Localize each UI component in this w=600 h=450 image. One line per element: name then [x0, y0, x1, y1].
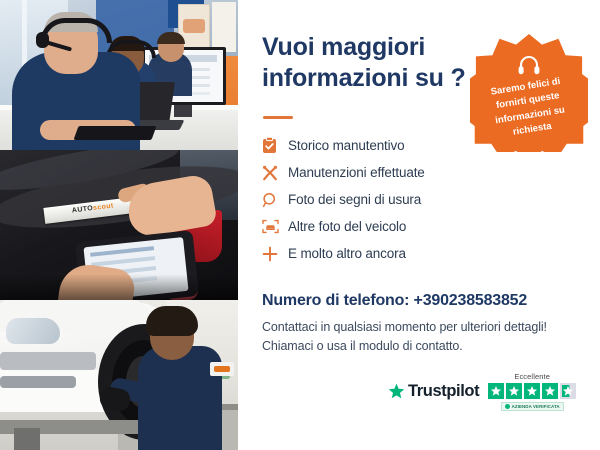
plus-icon: [262, 246, 288, 262]
list-item-label: Storico manutentivo: [288, 138, 404, 153]
list-item-label: Altre foto del veicolo: [288, 219, 406, 234]
magnifier-icon: [262, 192, 288, 208]
advertisement-card: AUTOscout: [0, 0, 600, 450]
rating-stars: [488, 383, 576, 399]
paper-sheets-decor: [212, 2, 236, 52]
title-divider: [263, 116, 293, 119]
photo-strip: AUTOscout: [0, 0, 238, 450]
contact-line-2: Chiamaci o usa il modulo di contatto.: [262, 339, 463, 353]
feature-list: Storico manutentivo Manutenzioni effettu…: [262, 132, 512, 267]
headlight-decor: [6, 318, 60, 344]
verified-business-badge: AZIENDA VERIFICATA: [501, 402, 564, 411]
trustpilot-widget[interactable]: Trustpilot Eccellente: [388, 372, 576, 411]
list-item-label: Manutenzioni effettuate: [288, 165, 425, 180]
contact-line-1: Contattaci in qualsiasi momento per ulte…: [262, 320, 547, 334]
worker-1-headset: [40, 18, 112, 43]
star-filled: [524, 383, 540, 399]
list-item: Foto dei segni di usura: [262, 186, 512, 213]
star-filled: [506, 383, 522, 399]
keyboard-decor: [73, 126, 156, 140]
trustpilot-rating: Eccellente: [488, 372, 576, 411]
star-filled: [542, 383, 558, 399]
mechanic-uniform-badge: [210, 362, 234, 376]
trustpilot-logo: Trustpilot: [388, 382, 479, 401]
clipboard-check-icon: [262, 137, 288, 154]
verified-badge-label: AZIENDA VERIFICATA: [512, 404, 560, 409]
star-partial: [560, 383, 576, 399]
list-item-label: E molto altro ancora: [288, 246, 406, 261]
list-item-label: Foto dei segni di usura: [288, 192, 421, 207]
mechanic-wheel-photo: [0, 300, 238, 450]
sticker-text: AUTOscout: [72, 202, 115, 214]
car-grille-decor: [0, 352, 96, 370]
mechanic-hair: [146, 306, 198, 336]
wrench-screwdriver-icon: [262, 165, 288, 181]
trustpilot-name: Trustpilot: [408, 382, 479, 401]
content-panel: Vuoi maggiori informazioni su ? Saremo f…: [238, 0, 600, 450]
rating-label: Eccellente: [514, 372, 550, 381]
trustpilot-star-icon: [388, 383, 405, 400]
list-item: Altre foto del veicolo: [262, 213, 512, 240]
call-center-operators-photo: [0, 0, 238, 150]
list-item: Manutenzioni effettuate: [262, 159, 512, 186]
sticker-on-car-photo: AUTOscout: [0, 150, 238, 300]
star-filled: [488, 383, 504, 399]
headset-icon: [517, 54, 541, 76]
photo-shadow-decor: [0, 274, 238, 300]
page-title: Vuoi maggiori informazioni su ?: [262, 32, 482, 93]
verified-check-icon: [505, 404, 510, 409]
car-lift-leg: [14, 428, 40, 450]
monitor-stand-decor: [174, 105, 192, 117]
phone-number[interactable]: Numero di telefono: +390238583852: [262, 292, 527, 310]
contact-description: Contattaci in qualsiasi momento per ulte…: [262, 318, 592, 357]
list-item: Storico manutentivo: [262, 132, 512, 159]
car-lower-grille-decor: [0, 376, 76, 388]
list-item: E molto altro ancora: [262, 240, 512, 267]
photo-frame-car-icon: [262, 219, 288, 234]
